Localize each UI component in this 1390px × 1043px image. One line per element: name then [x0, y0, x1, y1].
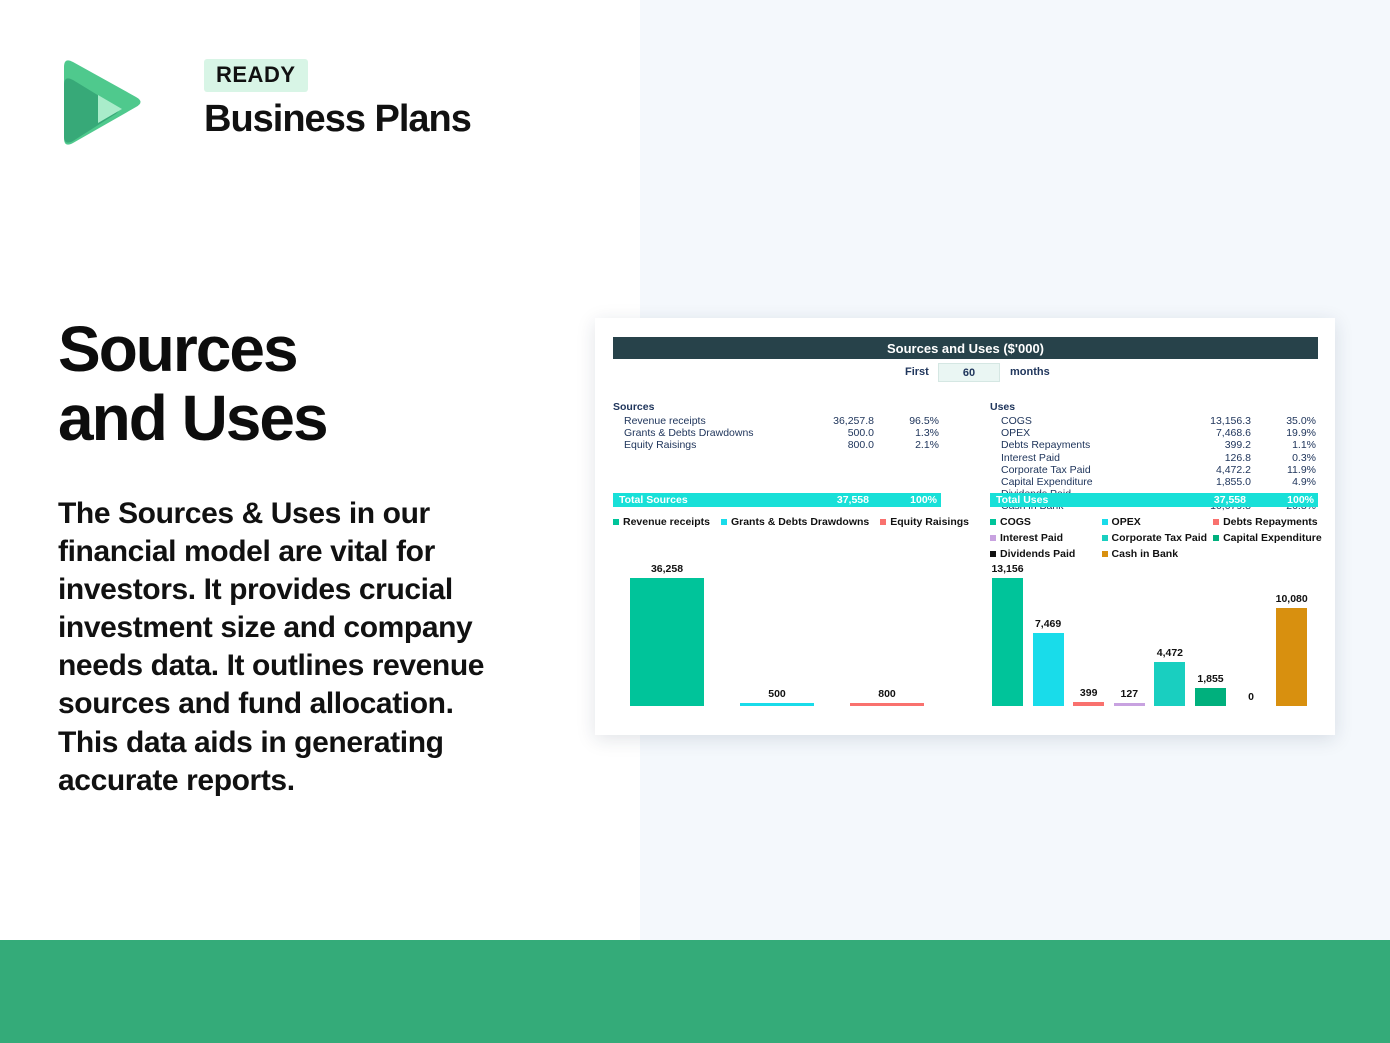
bar-value-label: 800 — [878, 688, 896, 700]
bar — [1154, 662, 1185, 706]
legend-swatch — [880, 519, 886, 525]
bottom-accent-band — [0, 940, 1390, 1043]
row-pct: 19.9% — [1251, 427, 1318, 439]
bar-column: 127 — [1114, 546, 1145, 706]
row-amount: 4,472.2 — [1166, 464, 1251, 476]
bar — [740, 703, 814, 706]
legend-label: Revenue receipts — [623, 516, 710, 528]
legend-swatch — [1102, 535, 1108, 541]
legend-label: COGS — [1000, 516, 1031, 528]
sources-table: Sources Revenue receipts36,257.896.5%Gra… — [613, 401, 941, 452]
total-uses-row: Total Uses 37,558 100% — [990, 493, 1318, 507]
period-prefix-label: First — [905, 366, 929, 378]
row-label: Revenue receipts — [613, 415, 789, 427]
bar-value-label: 13,156 — [991, 563, 1023, 575]
row-label: OPEX — [990, 427, 1166, 439]
bar — [1033, 633, 1064, 706]
bar-column: 800 — [850, 546, 924, 706]
bar — [992, 578, 1023, 706]
row-amount: 1,855.0 — [1166, 476, 1251, 488]
table-row: Debts Repayments399.21.1% — [990, 439, 1318, 451]
row-pct: 1.3% — [874, 427, 941, 439]
row-label: COGS — [990, 415, 1166, 427]
legend-item: Corporate Tax Paid — [1102, 532, 1214, 544]
row-pct: 11.9% — [1251, 464, 1318, 476]
row-pct: 0.3% — [1251, 452, 1318, 464]
uses-heading: Uses — [990, 401, 1318, 413]
bar-column: 10,080 — [1276, 546, 1307, 706]
total-sources-pct: 100% — [869, 494, 941, 506]
period-months-input[interactable]: 60 — [938, 363, 1000, 382]
legend-swatch — [1102, 519, 1108, 525]
bar-column: 36,258 — [630, 546, 704, 706]
bar-column: 7,469 — [1033, 546, 1064, 706]
table-row: Equity Raisings800.02.1% — [613, 439, 941, 451]
brand-logo: READY Business Plans — [56, 55, 476, 165]
bar-value-label: 399 — [1080, 687, 1098, 699]
table-row: Revenue receipts36,257.896.5% — [613, 415, 941, 427]
row-pct: 35.0% — [1251, 415, 1318, 427]
legend-label: OPEX — [1112, 516, 1141, 528]
row-label: Capital Expenditure — [990, 476, 1166, 488]
sources-chart-legend: Revenue receiptsGrants & Debts Drawdowns… — [613, 516, 953, 528]
legend-label: Interest Paid — [1000, 532, 1063, 544]
row-label: Grants & Debts Drawdowns — [613, 427, 789, 439]
ready-badge: READY — [204, 59, 308, 92]
row-label: Corporate Tax Paid — [990, 464, 1166, 476]
legend-label: Equity Raisings — [890, 516, 969, 528]
bar-value-label: 500 — [768, 688, 786, 700]
bar — [1114, 703, 1145, 706]
bar-value-label: 0 — [1248, 691, 1254, 703]
row-amount: 7,468.6 — [1166, 427, 1251, 439]
row-pct: 2.1% — [874, 439, 941, 451]
bar — [1195, 688, 1226, 706]
table-row: Corporate Tax Paid4,472.211.9% — [990, 464, 1318, 476]
logo-wordmark: READY Business Plans — [204, 59, 471, 138]
bar-column: 1,855 — [1195, 546, 1226, 706]
row-amount: 500.0 — [789, 427, 874, 439]
legend-item: Revenue receipts — [613, 516, 710, 528]
bar-value-label: 7,469 — [1035, 618, 1061, 630]
period-selector-row: First 60 months — [613, 366, 1318, 384]
row-amount: 399.2 — [1166, 439, 1251, 451]
bar-value-label: 36,258 — [651, 563, 683, 575]
page-title-line: and Uses — [58, 384, 598, 453]
total-uses-label: Total Uses — [990, 494, 1161, 506]
total-sources-amount: 37,558 — [784, 494, 869, 506]
play-triangle-logo-icon — [56, 55, 146, 150]
row-pct: 4.9% — [1251, 476, 1318, 488]
bar-value-label: 127 — [1121, 688, 1139, 700]
uses-bar-chart: 13,1567,4693991274,4721,855010,080 — [990, 546, 1325, 706]
page-description: The Sources & Uses in our financial mode… — [58, 495, 508, 800]
period-unit-label: months — [1010, 366, 1050, 378]
total-uses-amount: 37,558 — [1161, 494, 1246, 506]
bar — [1276, 608, 1307, 706]
row-amount: 126.8 — [1166, 452, 1251, 464]
bar-column: 500 — [740, 546, 814, 706]
total-sources-label: Total Sources — [613, 494, 784, 506]
card-title: Sources and Uses ($'000) — [613, 337, 1318, 359]
table-row: Grants & Debts Drawdowns500.01.3% — [613, 427, 941, 439]
page-title: Sourcesand Uses — [58, 315, 598, 453]
bar-column: 399 — [1073, 546, 1104, 706]
brand-name: Business Plans — [204, 100, 471, 138]
legend-swatch — [721, 519, 727, 525]
legend-item: OPEX — [1102, 516, 1214, 528]
legend-item: Capital Expenditure — [1213, 532, 1325, 544]
legend-label: Grants & Debts Drawdowns — [731, 516, 869, 528]
sources-bar-chart: 36,258500800 — [613, 546, 953, 706]
legend-item: Equity Raisings — [880, 516, 969, 528]
legend-swatch — [613, 519, 619, 525]
page-title-line: Sources — [58, 315, 598, 384]
legend-swatch — [990, 535, 996, 541]
row-pct: 1.1% — [1251, 439, 1318, 451]
row-amount: 800.0 — [789, 439, 874, 451]
table-row: COGS13,156.335.0% — [990, 415, 1318, 427]
bar-column: 4,472 — [1154, 546, 1185, 706]
legend-swatch — [990, 519, 996, 525]
sources-heading: Sources — [613, 401, 941, 413]
row-pct: 96.5% — [874, 415, 941, 427]
bar — [850, 703, 924, 706]
row-amount: 36,257.8 — [789, 415, 874, 427]
total-sources-row: Total Sources 37,558 100% — [613, 493, 941, 507]
row-label: Interest Paid — [990, 452, 1166, 464]
legend-item: Grants & Debts Drawdowns — [721, 516, 869, 528]
table-row: Interest Paid126.80.3% — [990, 452, 1318, 464]
bar-value-label: 1,855 — [1197, 673, 1223, 685]
legend-item: Debts Repayments — [1213, 516, 1325, 528]
total-uses-pct: 100% — [1246, 494, 1318, 506]
sources-and-uses-card: Sources and Uses ($'000) First 60 months… — [595, 318, 1335, 735]
bar-column: 13,156 — [992, 546, 1023, 706]
row-label: Equity Raisings — [613, 439, 789, 451]
table-row: Capital Expenditure1,855.04.9% — [990, 476, 1318, 488]
legend-label: Debts Repayments — [1223, 516, 1318, 528]
legend-swatch — [1213, 519, 1219, 525]
bar — [630, 578, 704, 706]
row-amount: 13,156.3 — [1166, 415, 1251, 427]
legend-label: Corporate Tax Paid — [1112, 532, 1208, 544]
legend-label: Capital Expenditure — [1223, 532, 1322, 544]
legend-item: Interest Paid — [990, 532, 1102, 544]
row-label: Debts Repayments — [990, 439, 1166, 451]
bar-value-label: 10,080 — [1276, 593, 1308, 605]
table-row: OPEX7,468.619.9% — [990, 427, 1318, 439]
legend-item: COGS — [990, 516, 1102, 528]
bar-value-label: 4,472 — [1157, 647, 1183, 659]
bar — [1073, 702, 1104, 706]
bar-column: 0 — [1236, 546, 1267, 706]
legend-swatch — [1213, 535, 1219, 541]
